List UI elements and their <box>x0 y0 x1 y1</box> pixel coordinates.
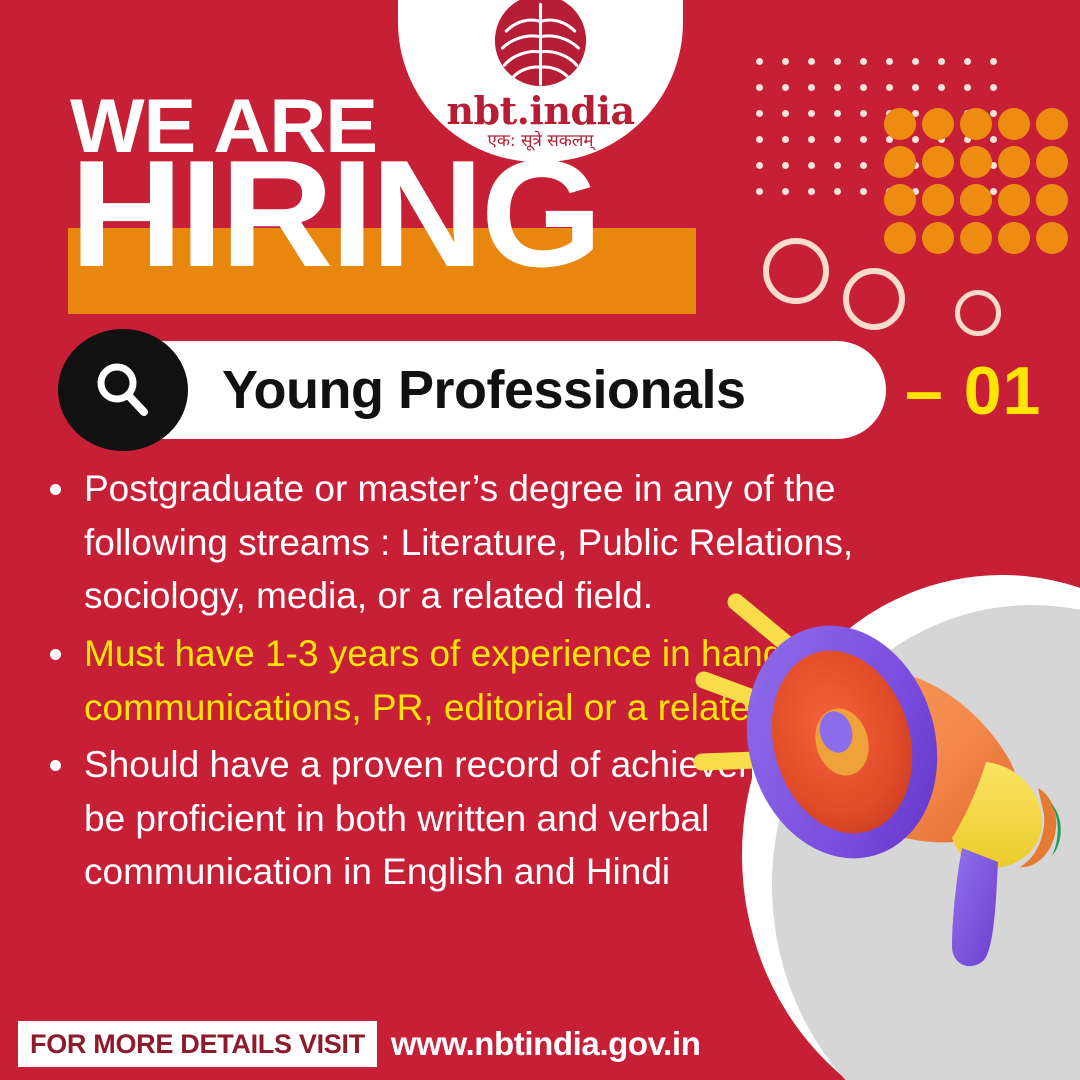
dot-decoration <box>756 188 763 195</box>
dot-decoration <box>834 84 841 91</box>
dot-decoration <box>756 162 763 169</box>
orange-circle-decoration <box>998 108 1030 140</box>
orange-grid-row <box>884 108 1074 146</box>
dot-decoration <box>990 58 997 65</box>
orange-circle-decoration <box>884 146 916 178</box>
dot-decoration <box>808 110 815 117</box>
orange-circle-decoration <box>922 146 954 178</box>
magnifier-icon <box>90 357 156 423</box>
orange-circle-decoration <box>960 108 992 140</box>
dot-decoration <box>756 58 763 65</box>
dot-decoration <box>808 188 815 195</box>
orange-circle-decoration <box>1036 108 1068 140</box>
dot-decoration <box>860 162 867 169</box>
dot-decoration <box>860 58 867 65</box>
orange-grid-row <box>884 146 1074 184</box>
dot-decoration <box>860 188 867 195</box>
logo-wordmark: nbt.india <box>446 92 634 130</box>
orange-grid-row <box>884 184 1074 222</box>
footer-label: FOR MORE DETAILS VISIT <box>18 1021 377 1067</box>
orange-circle-decoration <box>960 184 992 216</box>
dot-decoration <box>808 84 815 91</box>
dot-decoration <box>756 136 763 143</box>
dot-decoration <box>782 136 789 143</box>
dot-decoration <box>782 58 789 65</box>
orange-circle-decoration <box>922 222 954 254</box>
dot-decoration <box>782 84 789 91</box>
role-pill: Young Professionals <box>108 341 886 439</box>
dot-decoration <box>860 84 867 91</box>
dot-decoration <box>782 110 789 117</box>
dot-decoration <box>808 58 815 65</box>
dot-decoration <box>808 162 815 169</box>
dot-grid-row <box>756 84 1016 110</box>
orange-circle-decoration <box>884 184 916 216</box>
dot-decoration <box>938 58 945 65</box>
dot-decoration <box>782 188 789 195</box>
orange-circle-decoration <box>998 146 1030 178</box>
dot-decoration <box>834 136 841 143</box>
dot-decoration <box>834 162 841 169</box>
orange-circle-decoration <box>998 184 1030 216</box>
orange-dot-grid-decoration <box>884 108 1074 260</box>
hiring-poster: nbt.india एक: सूत्रे सकलम् WE ARE HIRING… <box>0 0 1080 1080</box>
magnifier-icon-badge <box>58 329 188 451</box>
orange-circle-decoration <box>1036 184 1068 216</box>
dot-decoration <box>860 136 867 143</box>
dot-decoration <box>808 136 815 143</box>
dot-grid-row <box>756 58 1016 84</box>
dot-decoration <box>964 84 971 91</box>
footer-url[interactable]: www.nbtindia.gov.in <box>391 1025 701 1063</box>
orange-circle-decoration <box>922 184 954 216</box>
orange-circle-decoration <box>998 222 1030 254</box>
orange-circle-decoration <box>1036 222 1068 254</box>
dot-decoration <box>964 58 971 65</box>
dot-decoration <box>756 110 763 117</box>
orange-circle-decoration <box>960 146 992 178</box>
headline-hiring: HIRING <box>70 152 599 277</box>
dot-decoration <box>886 84 893 91</box>
dot-decoration <box>860 110 867 117</box>
dot-decoration <box>912 58 919 65</box>
dot-decoration <box>782 162 789 169</box>
dot-decoration <box>938 84 945 91</box>
dot-decoration <box>886 58 893 65</box>
ring-decoration-medium <box>843 268 905 330</box>
orange-grid-row <box>884 222 1074 260</box>
megaphone-illustration <box>690 580 1080 985</box>
ring-decoration-large <box>763 238 829 304</box>
orange-circle-decoration <box>922 108 954 140</box>
orange-circle-decoration <box>884 108 916 140</box>
orange-circle-decoration <box>960 222 992 254</box>
role-count: – 01 <box>905 352 1041 430</box>
dot-decoration <box>756 84 763 91</box>
dot-decoration <box>834 58 841 65</box>
tree-leaf-emblem-icon <box>493 0 588 88</box>
footer-bar: FOR MORE DETAILS VISIT www.nbtindia.gov.… <box>0 1008 1080 1080</box>
orange-circle-decoration <box>1036 146 1068 178</box>
dot-decoration <box>834 110 841 117</box>
role-title: Young Professionals <box>222 359 746 421</box>
orange-circle-decoration <box>884 222 916 254</box>
dot-decoration <box>990 84 997 91</box>
dot-decoration <box>912 84 919 91</box>
dot-decoration <box>834 188 841 195</box>
ring-decoration-small <box>955 290 1001 336</box>
